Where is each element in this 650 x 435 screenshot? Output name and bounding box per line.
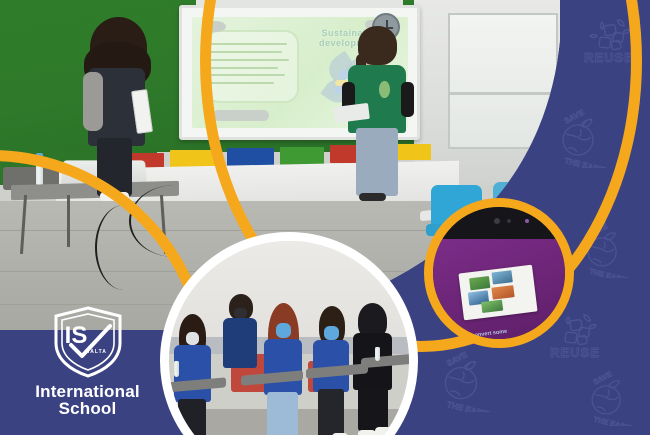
shield-check-icon: IS MALTA [49,305,127,379]
inset-bottle-1 [174,361,179,377]
laptop-slide-closeup-photo: it mean to convert some [424,198,574,348]
logo-wordmark: International School [20,383,155,417]
logo-name-line-2: School [20,400,155,417]
webcam-icon [494,218,500,224]
logo-name-line-1: International [20,383,155,400]
poster-canvas: REUSE SAVE THE EARTH SAVE THE EARTH [0,0,650,435]
logo-monogram: IS [64,322,87,349]
laptop-bezel [433,207,565,241]
seated-students-photo [160,232,418,435]
purple-slide-screen: it mean to convert some [433,239,565,339]
slide-image-grid [458,264,537,320]
logo-sub-mark: MALTA [85,349,107,355]
webcam-sensor-icon [507,219,511,223]
inset-bottle-2 [375,347,380,361]
inset-student-3 [260,303,310,435]
school-logo: IS MALTA International School [20,305,155,417]
